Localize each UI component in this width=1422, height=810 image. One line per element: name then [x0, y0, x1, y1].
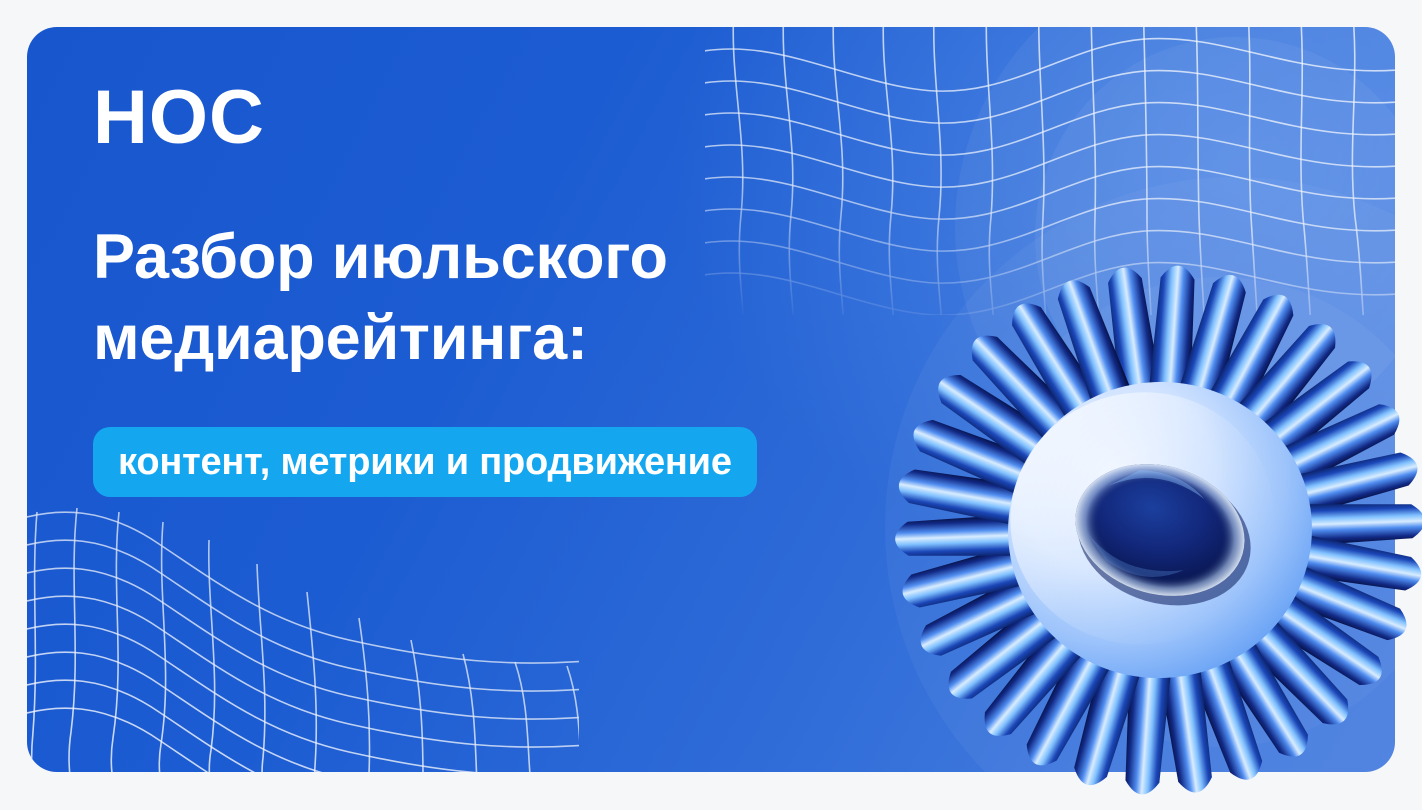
page-title: Разбор июльского медиарейтинга: — [93, 217, 973, 379]
subtitle-pill-label: контент, метрики и продвижение — [118, 443, 732, 481]
glow-ring-4 — [985, 277, 1395, 747]
slide-canvas: НОС Разбор июльского медиарейтинга: конт… — [0, 0, 1422, 800]
mesh-pattern-bottom-left-icon — [27, 492, 579, 772]
glow-ring-1 — [955, 27, 1395, 507]
hero-card: НОС Разбор июльского медиарейтинга: конт… — [27, 27, 1395, 772]
page-title-line-1: Разбор июльского — [93, 217, 973, 298]
brand-logo: НОС — [93, 75, 265, 161]
subtitle-pill: контент, метрики и продвижение — [93, 427, 757, 497]
page-title-line-2: медиарейтинга: — [93, 298, 973, 379]
glow-ring-2 — [1035, 37, 1395, 437]
